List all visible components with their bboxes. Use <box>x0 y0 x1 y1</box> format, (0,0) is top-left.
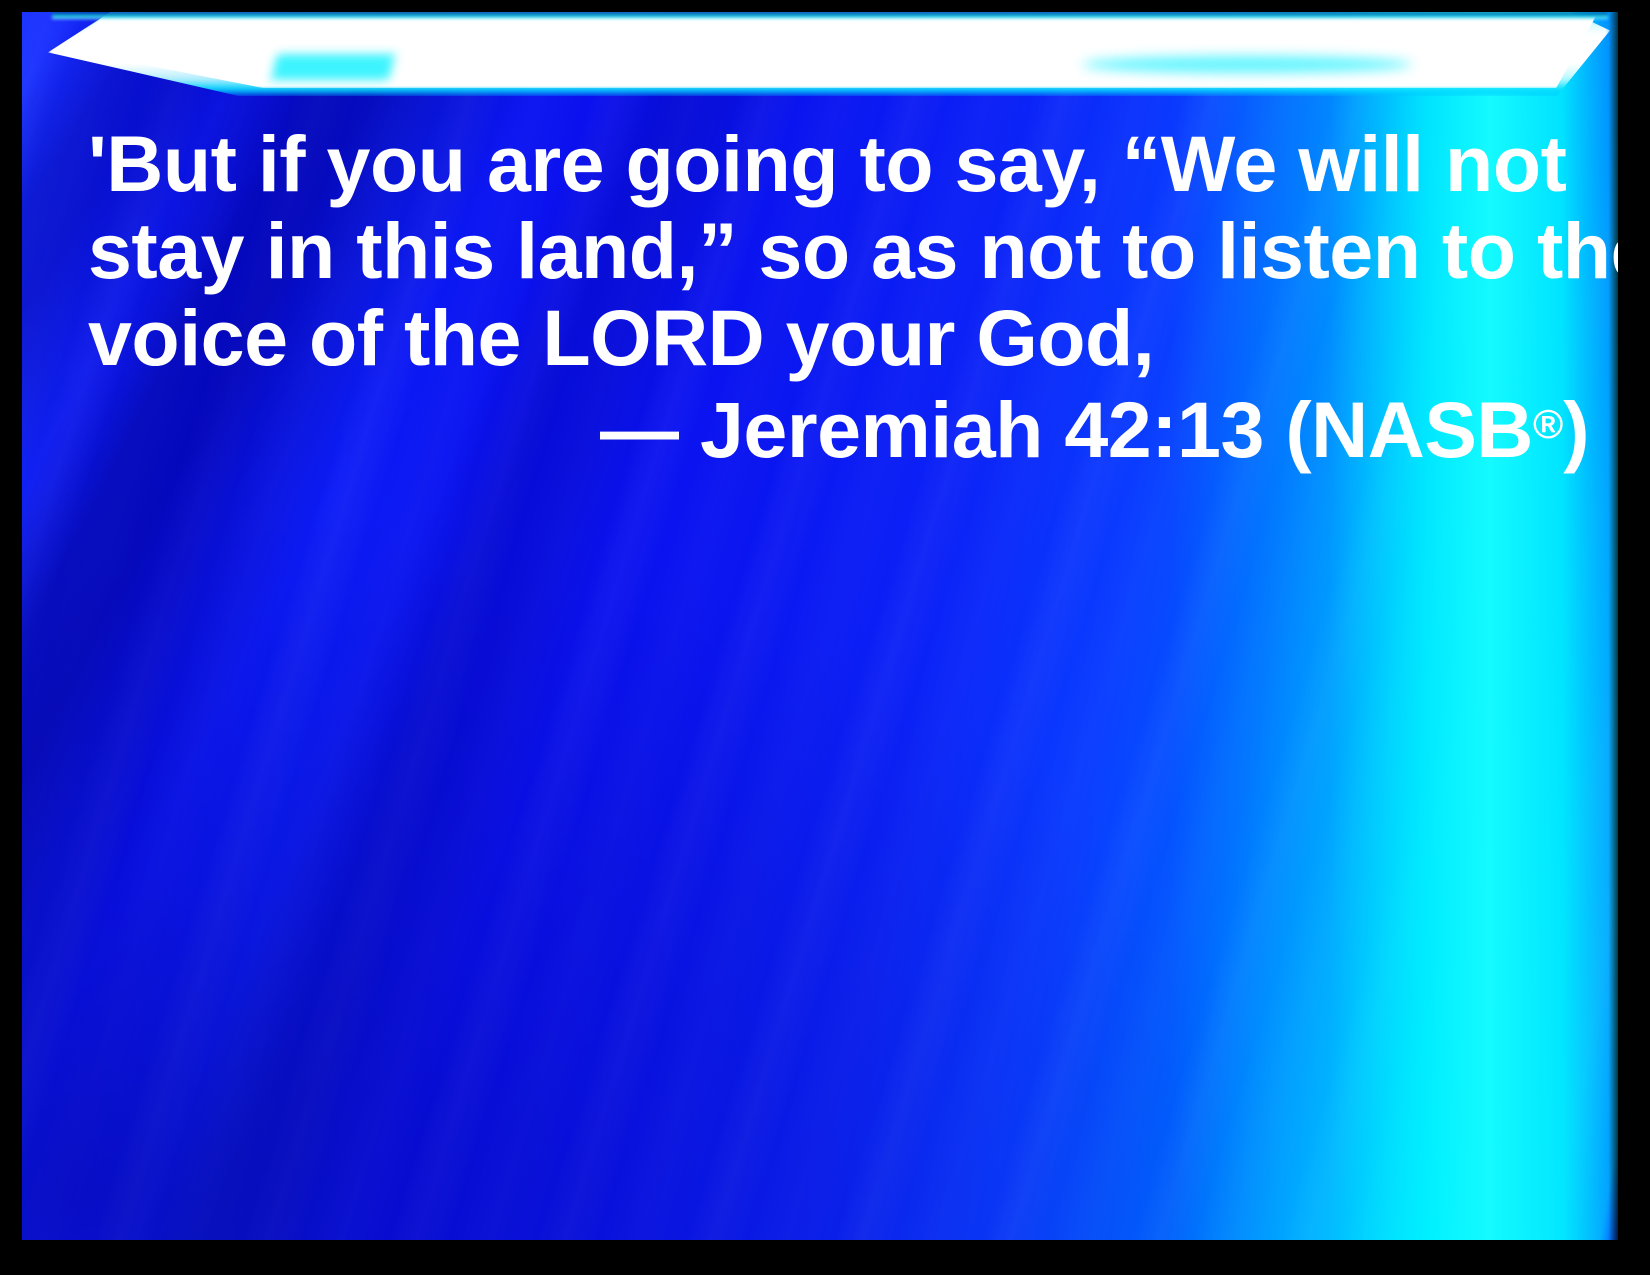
registered-trademark-icon: ® <box>1533 401 1563 447</box>
attribution-prefix: — Jeremiah 42:13 (NASB <box>600 385 1533 474</box>
verse-line-3: voice of the LORD your God, <box>88 294 1588 381</box>
slide-frame: 'But if you are going to say, “We will n… <box>0 0 1650 1275</box>
verse-text-block: 'But if you are going to say, “We will n… <box>88 120 1588 473</box>
light-bar-top-teal-edge <box>52 12 1608 19</box>
verse-line-2: stay in this land,” so as not to listen … <box>88 207 1588 294</box>
light-bar-cyan-smudge-right <box>1082 56 1412 73</box>
verse-attribution: — Jeremiah 42:13 (NASB®) <box>88 381 1588 473</box>
light-bar-cyan-smudge-left <box>271 54 395 80</box>
top-light-bar <box>22 12 1618 100</box>
slide-background-stage: 'But if you are going to say, “We will n… <box>22 12 1618 1240</box>
attribution-suffix: ) <box>1563 385 1589 474</box>
light-bar-halo <box>48 12 1610 96</box>
light-bar-core <box>64 16 1596 88</box>
verse-line-1: 'But if you are going to say, “We will n… <box>88 120 1588 207</box>
